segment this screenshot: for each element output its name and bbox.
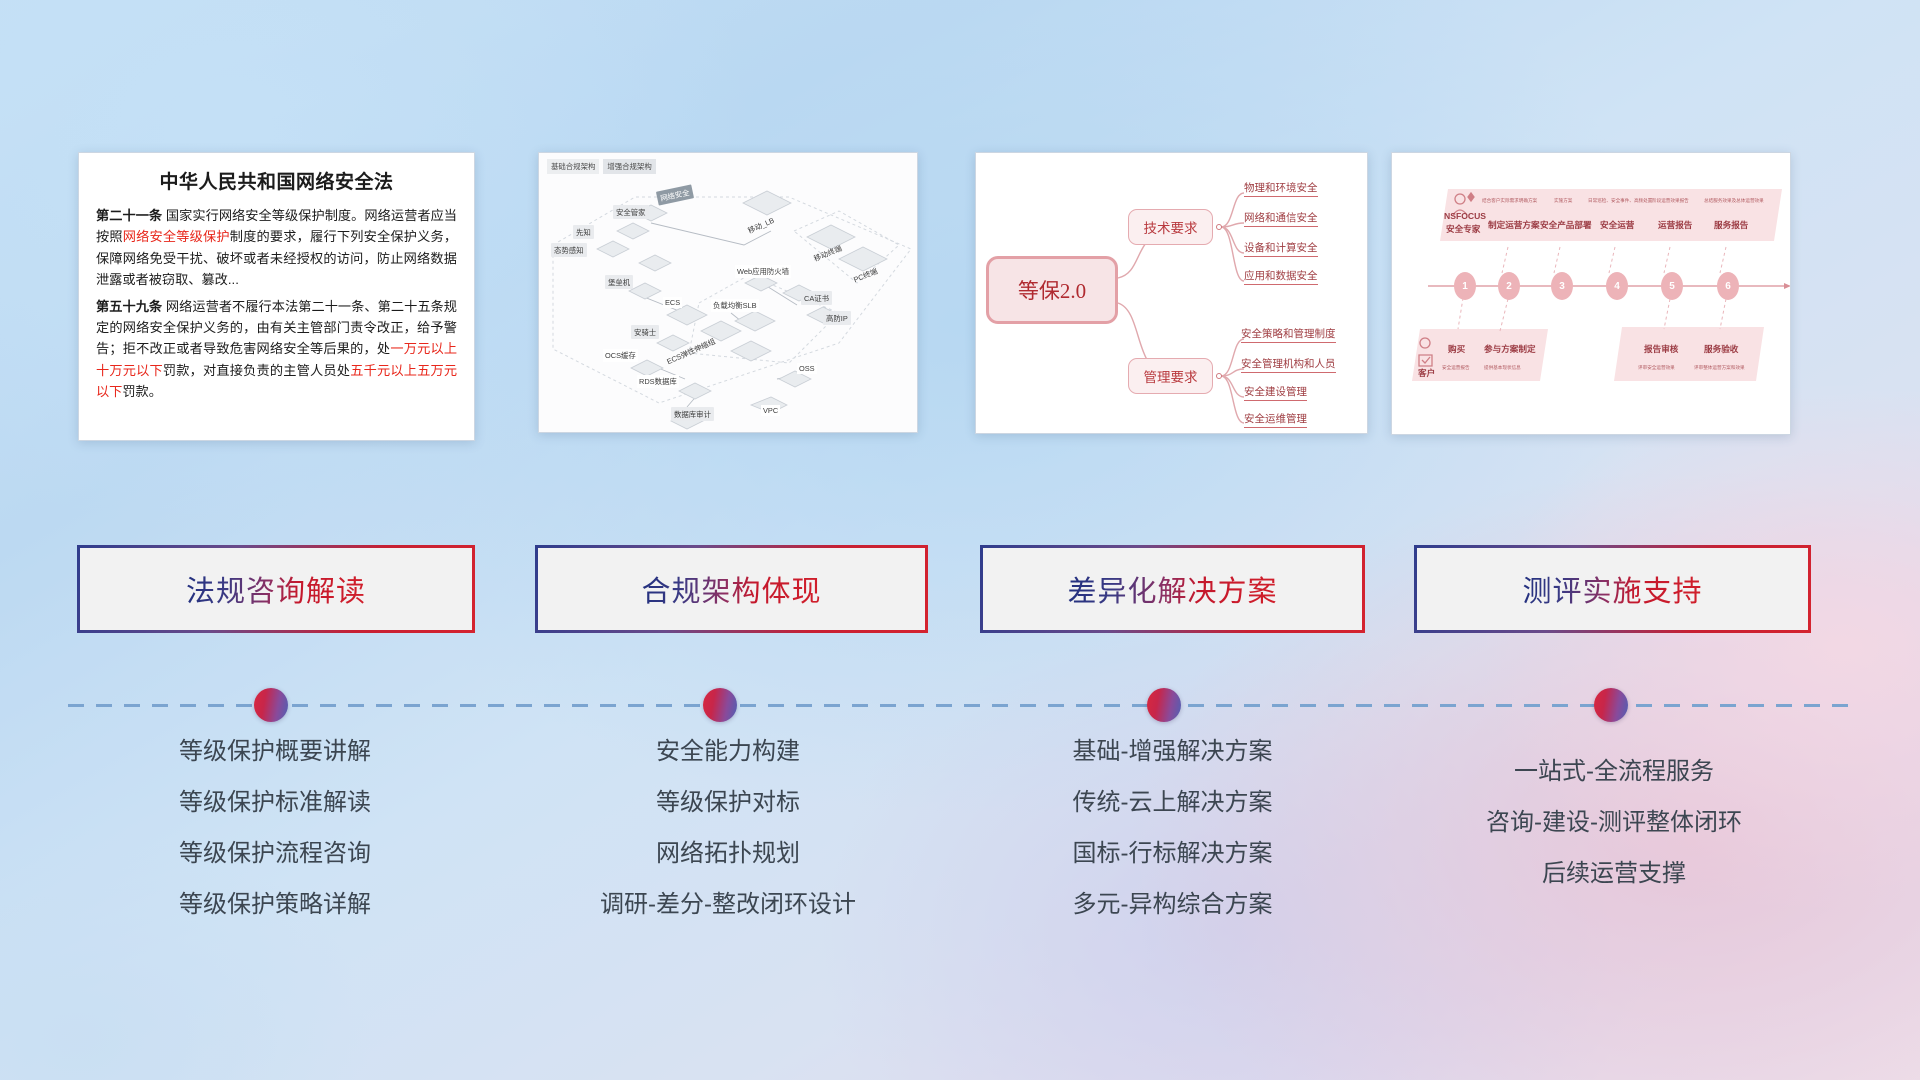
flow-node-4: 4 bbox=[1606, 272, 1628, 300]
section-title-text-2: 合规架构体现 bbox=[641, 568, 821, 610]
list-item: 等级保护对标 bbox=[528, 791, 928, 815]
detail-list-row: 等级保护概要讲解 等级保护标准解读 等级保护流程咨询 等级保护策略详解 安全能力… bbox=[0, 740, 1920, 960]
law-run-2-4: 罚款。 bbox=[122, 384, 162, 399]
timeline-dashed-line bbox=[68, 704, 1858, 707]
flow-customer-role: 客户 bbox=[1418, 367, 1435, 379]
flow-bottom-sub-3: 评审整体运营方案和效果 bbox=[1694, 365, 1745, 371]
mindmap-leaf-tech-3: 应用和数据安全 bbox=[1244, 268, 1318, 285]
list-item: 安全能力构建 bbox=[528, 740, 928, 764]
flow-node-1: 1 bbox=[1454, 272, 1476, 300]
arch-node-18: OSS bbox=[797, 363, 817, 374]
timeline-dot-4[interactable] bbox=[1594, 688, 1628, 722]
list-item: 传统-云上解决方案 bbox=[975, 791, 1370, 815]
arch-node-3: 态势感知 bbox=[551, 243, 587, 257]
mindmap-leaf-mgmt-1: 安全管理机构和人员 bbox=[1241, 356, 1336, 373]
flow-bottom-main-3: 服务验收 bbox=[1704, 343, 1738, 355]
mindmap-branch-tech: 技术要求 bbox=[1128, 209, 1213, 245]
law-run-1-1: 网络安全等级保护 bbox=[123, 229, 230, 244]
flow-bottom-main-2: 报告审核 bbox=[1644, 343, 1678, 355]
section-title-box-3[interactable]: 差异化解决方案 bbox=[980, 545, 1365, 633]
image-card-row: 中华人民共和国网络安全法 第二十一条 国家实行网络安全等级保护制度。网络运营者应… bbox=[0, 152, 1920, 442]
section-title-row: 法规咨询解读 合规架构体现 差异化解决方案 测评实施支持 bbox=[0, 545, 1920, 633]
flow-node-3: 3 bbox=[1551, 272, 1573, 300]
list-item: 后续运营支撑 bbox=[1414, 862, 1814, 886]
slide-stage: 中华人民共和国网络安全法 第二十一条 国家实行网络安全等级保护制度。网络运营者应… bbox=[0, 0, 1920, 1080]
timeline-dot-2[interactable] bbox=[703, 688, 737, 722]
law-card: 中华人民共和国网络安全法 第二十一条 国家实行网络安全等级保护制度。网络运营者应… bbox=[78, 152, 475, 441]
arch-node-1: 安全管家 bbox=[613, 205, 649, 219]
timeline-dot-3[interactable] bbox=[1147, 688, 1181, 722]
arch-node-13: 高防IP bbox=[823, 311, 851, 325]
list-item: 等级保护标准解读 bbox=[80, 791, 470, 815]
architecture-card: 基础合规架构 增强合规架构 bbox=[538, 152, 918, 433]
detail-list-3: 基础-增强解决方案 传统-云上解决方案 国标-行标解决方案 多元-异构综合方案 bbox=[975, 740, 1370, 944]
mindmap-leaf-tech-1: 网络和通信安全 bbox=[1244, 210, 1318, 227]
section-title-text-1: 法规咨询解读 bbox=[186, 568, 366, 610]
mindmap-leaf-mgmt-0: 安全策略和管理制度 bbox=[1241, 326, 1336, 343]
flow-bottom-sub-2: 评审安全运营效果 bbox=[1638, 365, 1675, 371]
flow-bottom-sub-1: 提供基本现状信息 bbox=[1484, 365, 1521, 371]
detail-list-4: 一站式-全流程服务 咨询-建设-测评整体闭环 后续运营支撑 bbox=[1414, 760, 1814, 913]
arch-node-9: 数据库审计 bbox=[671, 407, 714, 421]
list-item: 咨询-建设-测评整体闭环 bbox=[1414, 811, 1814, 835]
section-title-box-2[interactable]: 合规架构体现 bbox=[535, 545, 928, 633]
flow-node-6: 6 bbox=[1717, 272, 1739, 300]
section-title-box-4[interactable]: 测评实施支持 bbox=[1414, 545, 1811, 633]
flow-top-sub-2: 日常巡检、安全事件、高频处置 bbox=[1588, 198, 1652, 204]
arch-node-7: OCS缓存 bbox=[603, 349, 638, 362]
section-title-text-3: 差异化解决方案 bbox=[1067, 568, 1277, 610]
flow-top-sub-0: 结合客户实际需求明确方案 bbox=[1482, 198, 1537, 204]
mindmap-collapse-dot-tech[interactable] bbox=[1216, 224, 1222, 230]
list-item: 一站式-全流程服务 bbox=[1414, 760, 1814, 784]
timeline-dot-1[interactable] bbox=[254, 688, 288, 722]
law-run-2-2: 罚款，对直接负责的主管人员处 bbox=[163, 363, 350, 378]
arch-node-12: CA证书 bbox=[801, 291, 832, 305]
mindmap-branch-mgmt: 管理要求 bbox=[1128, 358, 1213, 394]
service-flow-card: NSFOCUS 安全专家 客户 结合客户实际需求明确方案 制定运营方案 实施方案… bbox=[1391, 152, 1791, 435]
service-flow-diagram: NSFOCUS 安全专家 客户 结合客户实际需求明确方案 制定运营方案 实施方案… bbox=[1392, 153, 1790, 434]
flow-top-main-0: 制定运营方案 bbox=[1488, 219, 1540, 231]
flow-top-main-4: 服务报告 bbox=[1714, 219, 1748, 231]
flow-node-5: 5 bbox=[1661, 272, 1683, 300]
architecture-lines bbox=[539, 153, 918, 433]
flow-bottom-main-1: 参与方案制定 bbox=[1484, 343, 1536, 355]
mindmap-card: 等保2.0 技术要求 物理和环境安全 网络和通信安全 设备和计算安全 应用和数据… bbox=[975, 152, 1368, 434]
flow-vendor-name: NSFOCUS bbox=[1444, 211, 1486, 221]
arch-node-2: 先知 bbox=[573, 225, 594, 239]
mindmap-collapse-dot-mgmt[interactable] bbox=[1216, 373, 1222, 379]
arch-node-6: 安骑士 bbox=[631, 325, 659, 339]
mindmap-diagram: 等保2.0 技术要求 物理和环境安全 网络和通信安全 设备和计算安全 应用和数据… bbox=[976, 153, 1367, 433]
flow-top-main-1: 安全产品部署 bbox=[1540, 219, 1592, 231]
list-item: 调研-差分-整改闭环设计 bbox=[528, 893, 928, 917]
arch-node-11: Web应用防火墙 bbox=[735, 265, 791, 278]
list-item: 等级保护概要讲解 bbox=[80, 740, 470, 764]
law-article-1: 第二十一条 bbox=[96, 208, 162, 223]
arch-node-5: ECS bbox=[663, 297, 682, 308]
mindmap-root: 等保2.0 bbox=[986, 256, 1118, 324]
section-title-box-1[interactable]: 法规咨询解读 bbox=[77, 545, 475, 633]
arch-node-4: 堡垒机 bbox=[605, 275, 633, 289]
law-card-body: 中华人民共和国网络安全法 第二十一条 国家实行网络安全等级保护制度。网络运营者应… bbox=[79, 153, 474, 412]
list-item: 国标-行标解决方案 bbox=[975, 842, 1370, 866]
arch-node-8: RDS数据库 bbox=[637, 375, 679, 388]
section-title-text-4: 测评实施支持 bbox=[1522, 568, 1702, 610]
flow-top-main-3: 运营报告 bbox=[1658, 219, 1692, 231]
flow-top-sub-1: 实施方案 bbox=[1554, 198, 1572, 204]
list-item: 等级保护策略详解 bbox=[80, 893, 470, 917]
arch-node-10: 负载均衡SLB bbox=[711, 299, 759, 312]
flow-vendor-role: 安全专家 bbox=[1446, 223, 1480, 235]
list-item: 等级保护流程咨询 bbox=[80, 842, 470, 866]
flow-node-2: 2 bbox=[1498, 272, 1520, 300]
flow-top-sub-3: 阶段运营效果报告 bbox=[1652, 198, 1689, 204]
flow-bottom-sub-0: 安全运营报告 bbox=[1442, 365, 1470, 371]
architecture-diagram: 基础合规架构 增强合规架构 bbox=[539, 153, 917, 432]
flow-top-main-2: 安全运营 bbox=[1600, 219, 1634, 231]
mindmap-leaf-tech-0: 物理和环境安全 bbox=[1244, 180, 1318, 197]
timeline bbox=[0, 694, 1920, 718]
mindmap-leaf-tech-2: 设备和计算安全 bbox=[1244, 240, 1318, 257]
arch-node-19: VPC bbox=[761, 405, 780, 416]
list-item: 多元-异构综合方案 bbox=[975, 893, 1370, 917]
list-item: 基础-增强解决方案 bbox=[975, 740, 1370, 764]
mindmap-leaf-mgmt-2: 安全建设管理 bbox=[1244, 384, 1307, 401]
law-title: 中华人民共和国网络安全法 bbox=[96, 167, 457, 194]
detail-list-2: 安全能力构建 等级保护对标 网络拓扑规划 调研-差分-整改闭环设计 bbox=[528, 740, 928, 944]
law-paragraph-1: 第二十一条 国家实行网络安全等级保护制度。网络运营者应当按照网络安全等级保护制度… bbox=[96, 205, 457, 291]
mindmap-leaf-mgmt-3: 安全运维管理 bbox=[1244, 411, 1307, 428]
law-article-2: 第五十九条 bbox=[96, 299, 162, 314]
list-item: 网络拓扑规划 bbox=[528, 842, 928, 866]
law-paragraph-2: 第五十九条 网络运营者不履行本法第二十一条、第二十五条规定的网络安全保护义务的，… bbox=[96, 296, 457, 403]
flow-top-sub-4: 总结服务效果及总体运营效果 bbox=[1704, 198, 1764, 204]
flow-bottom-main-0: 购买 bbox=[1448, 343, 1465, 355]
detail-list-1: 等级保护概要讲解 等级保护标准解读 等级保护流程咨询 等级保护策略详解 bbox=[80, 740, 470, 944]
